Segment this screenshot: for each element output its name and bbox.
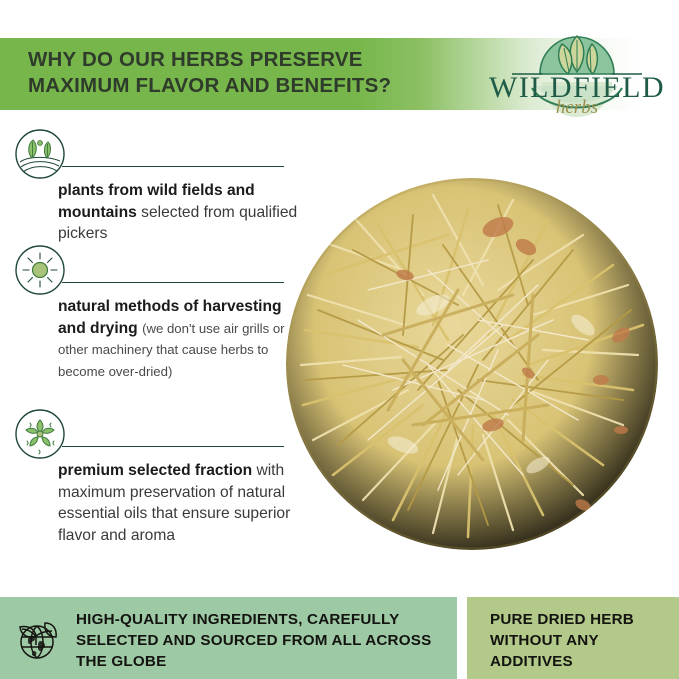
feature-divider [62,446,284,447]
banner-text: HIGH-QUALITY INGREDIENTS, CAREFULLY SELE… [76,609,448,672]
feature-divider [62,166,284,167]
herb-leaf-fraction-icon [14,408,66,460]
feature-lead: premium selected fraction [58,462,252,479]
logo-sub-name: herbs [556,97,598,118]
banner-high-quality-ingredients: HIGH-QUALITY INGREDIENTS, CAREFULLY SELE… [0,597,457,679]
feature-divider [62,282,284,283]
globe-leaves-icon [12,609,68,665]
feature-text: premium selected fraction with maximum p… [58,460,298,546]
page-title: WHY DO OUR HERBS PRESERVE MAXIMUM FLAVOR… [28,47,448,99]
feature-text: natural methods of harvesting and drying… [58,296,298,382]
wild-field-plants-icon [14,128,66,180]
brand-logo: WILDFIELD herbs [484,14,670,118]
banner-text: PURE DRIED HERB WITHOUT ANY ADDITIVES [490,609,672,672]
bottom-banner-row: HIGH-QUALITY INGREDIENTS, CAREFULLY SELE… [0,597,679,679]
banner-pure-dried-herb: PURE DRIED HERB WITHOUT ANY ADDITIVES [467,597,679,679]
sun-drying-icon [14,244,66,296]
dried-herb-pile-photo [283,175,661,553]
feature-text: plants from wild fields and mountains se… [58,180,298,245]
